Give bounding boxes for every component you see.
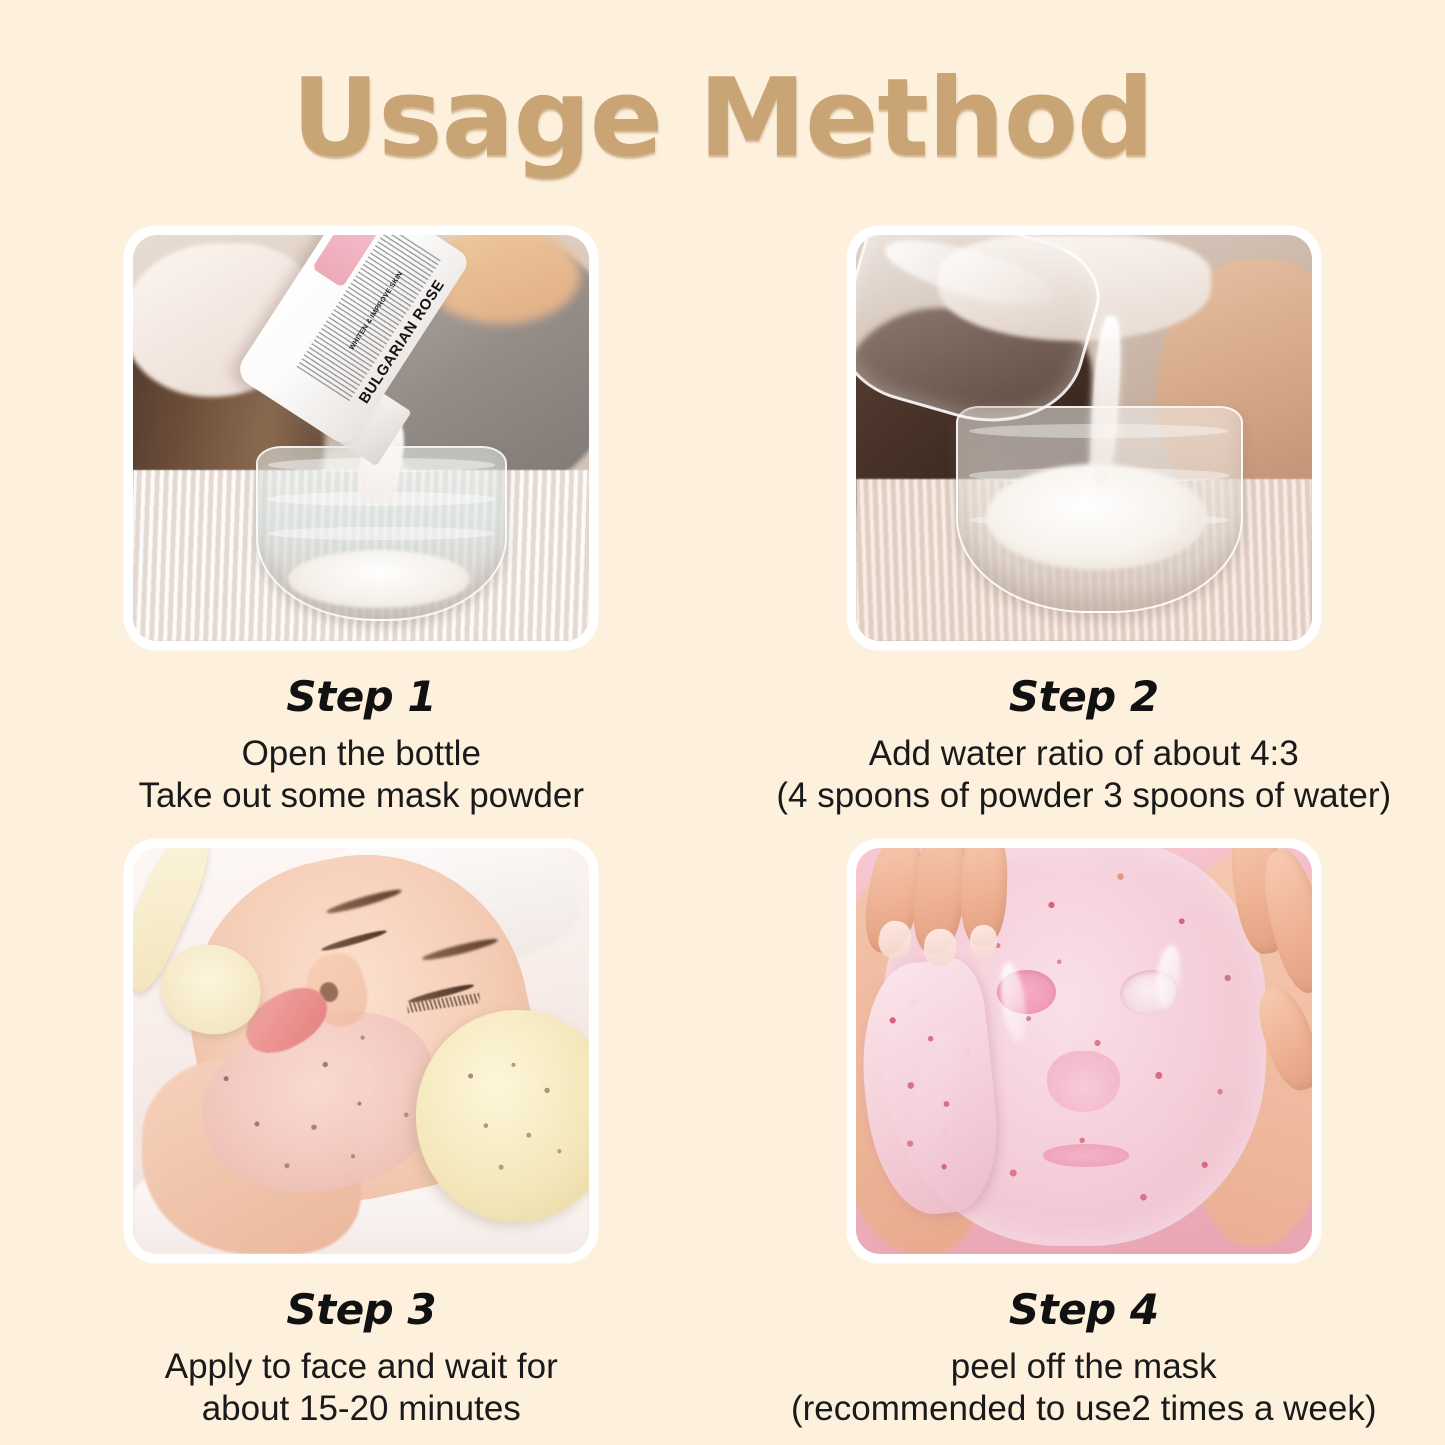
mask-mouth-hole [1043,1144,1130,1166]
step-heading-4: Step 4 [1009,1285,1159,1334]
step-description-2: Add water ratio of about 4:3 (4 spoons o… [776,733,1391,817]
step-photo-4 [856,848,1312,1254]
step-description-4: peel off the mask (recommended to use2 t… [791,1346,1377,1430]
page-title-wrapper: Usage Method [0,62,1445,175]
step-description-1: Open the bottle Take out some mask powde… [139,733,584,817]
step-card-4: Step 4 peel off the mask (recommended to… [723,839,1445,1430]
step-heading-1: Step 1 [286,672,436,721]
step-description-3: Apply to face and wait for about 15-20 m… [165,1346,558,1430]
step-photo-frame-2 [847,226,1321,650]
step-photo-1: WHITEN & IMPROVE SKIN BULGARIAN ROSE [133,235,589,641]
step-photo-frame-4 [847,839,1321,1263]
step-photo-frame-1: WHITEN & IMPROVE SKIN BULGARIAN ROSE [124,226,598,650]
pitcher-highlight [879,235,1060,319]
step-heading-2: Step 2 [1009,672,1159,721]
bowl-ring [268,527,495,541]
step-card-1: WHITEN & IMPROVE SKIN BULGARIAN ROSE Ste… [0,226,723,817]
page-title: Usage Method [0,62,1445,175]
mask-powder [288,550,470,608]
step-photo-frame-3 [124,839,598,1263]
mask-nose-hole [1047,1051,1120,1112]
step-card-2: Step 2 Add water ratio of about 4:3 (4 s… [723,226,1445,817]
step-heading-3: Step 3 [286,1285,436,1334]
step-card-3: Step 3 Apply to face and wait for about … [0,839,723,1430]
steps-grid: WHITEN & IMPROVE SKIN BULGARIAN ROSE Ste… [0,226,1445,1430]
step-photo-3 [133,848,589,1254]
step-photo-2 [856,235,1312,641]
